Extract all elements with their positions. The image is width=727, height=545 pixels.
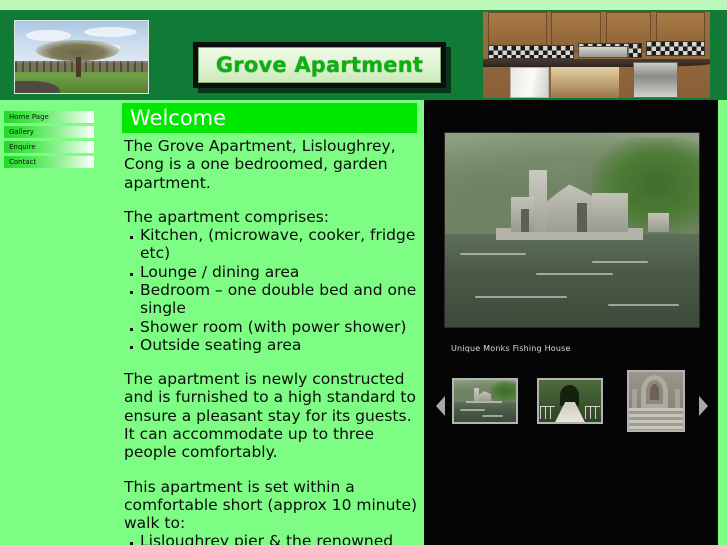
construction-paragraph: The apartment is newly constructed and i… — [124, 370, 420, 461]
list-item: Outside seating area — [124, 336, 420, 354]
sidebar-item-gallery[interactable]: Gallery — [4, 126, 94, 138]
page-root: Grove Apartment Home Page Galle — [0, 0, 727, 545]
gallery-next-arrow-icon[interactable] — [699, 396, 708, 416]
intro-paragraph: The Grove Apartment, Lisloughrey, Cong i… — [124, 137, 420, 192]
walk-intro-paragraph: This apartment is set within a comfortab… — [124, 478, 420, 533]
main-navigation: Home Page Gallery Enquire Contact — [4, 111, 94, 171]
gallery-prev-arrow-icon[interactable] — [436, 396, 445, 416]
thumb-monks-fishing-house[interactable] — [452, 378, 518, 424]
tree-and-field-photo — [14, 20, 149, 94]
sidebar-item-contact[interactable]: Contact — [4, 156, 94, 168]
gallery-thumbnail-strip — [424, 370, 718, 442]
monks-fishing-house-photo[interactable] — [444, 132, 700, 328]
content-body: The Grove Apartment, Lisloughrey, Cong i… — [124, 137, 420, 545]
list-item: Lounge / dining area — [124, 263, 420, 281]
top-color-band — [0, 0, 727, 10]
list-item: Lisloughrey pier & the renowned — [124, 532, 420, 545]
welcome-heading: Welcome — [122, 108, 226, 129]
main-content: Welcome The Grove Apartment, Lisloughrey… — [122, 100, 424, 545]
sidebar-item-label: Gallery — [4, 129, 34, 136]
gallery-caption: Unique Monks Fishing House — [451, 344, 571, 353]
comprises-label: The apartment comprises: — [124, 208, 420, 226]
thumb-stone-archway[interactable] — [627, 370, 685, 432]
gallery-right-edge — [718, 100, 727, 545]
welcome-heading-bar: Welcome — [122, 103, 417, 133]
sidebar-item-enquire[interactable]: Enquire — [4, 141, 94, 153]
sidebar-item-home-page[interactable]: Home Page — [4, 111, 94, 123]
site-title-plaque: Grove Apartment — [193, 42, 446, 88]
site-title-plaque-inner: Grove Apartment — [198, 47, 441, 83]
thumb-woodland-bridge[interactable] — [537, 378, 603, 424]
site-header: Grove Apartment — [0, 10, 727, 100]
sidebar-item-label: Enquire — [4, 144, 36, 151]
page-title: Grove Apartment — [216, 53, 423, 77]
list-item: Bedroom – one double bed and one single — [124, 281, 420, 318]
gallery-panel: Unique Monks Fishing House — [424, 100, 718, 545]
sidebar-item-label: Home Page — [4, 114, 49, 121]
left-sidebar: Home Page Gallery Enquire Contact — [0, 100, 122, 545]
kitchen-photo — [483, 12, 710, 98]
comprises-list: Kitchen, (microwave, cooker, fridge etc)… — [124, 226, 420, 354]
list-item: Kitchen, (microwave, cooker, fridge etc) — [124, 226, 420, 263]
sidebar-item-label: Contact — [4, 159, 36, 166]
list-item: Shower room (with power shower) — [124, 318, 420, 336]
walk-to-list: Lisloughrey pier & the renowned — [124, 532, 420, 545]
